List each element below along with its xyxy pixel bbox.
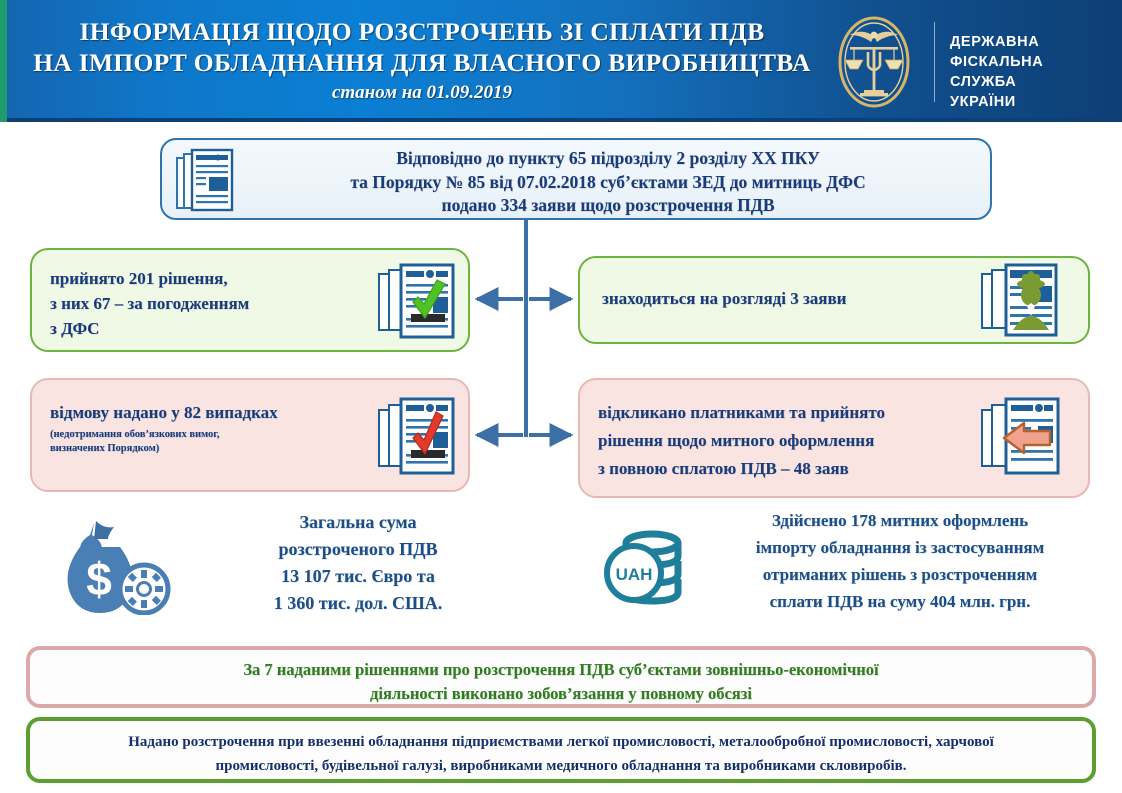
- obligations-fulfilled-line-1: За 7 наданими рішеннями про розстрочення…: [54, 658, 1068, 682]
- obligations-fulfilled-text: За 7 наданими рішеннями про розстрочення…: [54, 658, 1068, 706]
- industries-box: Надано розстрочення при ввезенні обладна…: [26, 717, 1096, 783]
- under-review-box: знаходиться на розгляді 3 заяви: [578, 256, 1090, 344]
- customs-clearances-summary: UAH Здійснено 178 митних оформлень імпор…: [588, 505, 1108, 623]
- total-amount-line-2: розстроченого ПДВ: [188, 536, 528, 563]
- agency-logo: ДЕРЖАВНА ФІСКАЛЬНА СЛУЖБА УКРАЇНИ: [838, 16, 1113, 108]
- refusals-box: відмову надано у 82 випадках (недотриман…: [30, 378, 470, 492]
- accepted-decisions-line-2: з них 67 – за погодженням: [50, 291, 350, 316]
- withdrawn-line-2: рішення щодо митного оформлення: [598, 427, 988, 455]
- top-statement-line-2: та Порядку № 85 від 07.02.2018 суб’єктам…: [232, 171, 984, 195]
- uah-icon-label: UAH: [616, 565, 653, 584]
- industries-text: Надано розстрочення при ввезенні обладна…: [50, 730, 1072, 778]
- logo-text-line-3: УКРАЇНИ: [950, 92, 1113, 112]
- page-title: ІНФОРМАЦІЯ ЩОДО РОЗСТРОЧЕНЬ ЗІ СПЛАТИ ПД…: [12, 16, 832, 104]
- accepted-decisions-line-3: з ДФС: [50, 316, 350, 341]
- under-review-text: знаходиться на розгляді 3 заяви: [602, 286, 992, 311]
- customs-clearances-line-3: отриманих рішень з розстроченням: [692, 561, 1108, 588]
- refusals-subtext-line-1: (недотримання обов’язкових вимог,: [50, 428, 380, 442]
- total-amount-line-1: Загальна сума: [188, 509, 528, 536]
- obligations-fulfilled-box: За 7 наданими рішеннями про розстрочення…: [26, 646, 1096, 708]
- withdrawn-box: відкликано платниками та прийнято рішенн…: [578, 378, 1090, 498]
- customs-clearances-line-1: Здійснено 178 митних оформлень: [692, 507, 1108, 534]
- withdrawn-line-3: з повною сплатою ПДВ – 48 заяв: [598, 455, 988, 483]
- documents-officer-icon: [980, 262, 1068, 342]
- page-title-line-1: ІНФОРМАЦІЯ ЩОДО РОЗСТРОЧЕНЬ ЗІ СПЛАТИ ПД…: [12, 16, 832, 47]
- customs-clearances-line-2: імпорту обладнання із застосуванням: [692, 534, 1108, 561]
- total-amount-line-3: 13 107 тис. Євро та: [188, 563, 528, 590]
- page-subtitle-date: станом на 01.09.2019: [12, 82, 832, 104]
- accepted-decisions-box: прийнято 201 рішення, з них 67 – за пого…: [30, 248, 470, 352]
- header-banner: ІНФОРМАЦІЯ ЩОДО РОЗСТРОЧЕНЬ ЗІ СПЛАТИ ПД…: [0, 0, 1122, 122]
- top-statement-text: Відповідно до пункту 65 підрозділу 2 роз…: [232, 147, 984, 218]
- refusals-subtext: (недотримання обов’язкових вимог, визнач…: [50, 428, 380, 456]
- withdrawn-line-1: відкликано платниками та прийнято: [598, 399, 988, 427]
- uah-coins-icon: UAH: [596, 523, 688, 613]
- customs-clearances-line-4: сплати ПДВ на суму 404 млн. грн.: [692, 588, 1108, 615]
- logo-text-line-2: ФІСКАЛЬНА СЛУЖБА: [950, 52, 1113, 92]
- industries-line-2: промисловості, будівельної галузі, вироб…: [50, 754, 1072, 778]
- logo-text-line-1: ДЕРЖАВНА: [950, 32, 1113, 52]
- documents-return-arrow-icon: [980, 396, 1068, 480]
- money-bag-dollar-gear-icon: $: [60, 517, 178, 615]
- documents-green-check-icon: [377, 262, 465, 342]
- top-statement-line-1: Відповідно до пункту 65 підрозділу 2 роз…: [232, 147, 984, 171]
- obligations-fulfilled-line-2: діяльності виконано зобов’язання у повно…: [54, 682, 1068, 706]
- refusals-text: відмову надано у 82 випадках (недотриман…: [50, 400, 380, 456]
- page-title-line-2: НА ІМПОРТ ОБЛАДНАННЯ ДЛЯ ВЛАСНОГО ВИРОБН…: [12, 47, 832, 78]
- header-accent-strip: [0, 0, 7, 122]
- logo-text: ДЕРЖАВНА ФІСКАЛЬНА СЛУЖБА УКРАЇНИ: [950, 32, 1113, 112]
- svg-text:$: $: [86, 553, 112, 605]
- industries-line-1: Надано розстрочення при ввезенні обладна…: [50, 730, 1072, 754]
- refusals-main-line: відмову надано у 82 випадках: [50, 400, 380, 425]
- top-statement-line-3: подано 334 заяви щодо розстрочення ПДВ: [232, 194, 984, 218]
- logo-divider: [934, 22, 935, 102]
- accepted-decisions-text: прийнято 201 рішення, з них 67 – за пого…: [50, 266, 350, 341]
- total-amount-summary: $ Загальна сума розстроченого ПДВ 13 107…: [40, 505, 540, 623]
- total-amount-text: Загальна сума розстроченого ПДВ 13 107 т…: [188, 509, 528, 617]
- total-amount-line-4: 1 360 тис. дол. США.: [188, 590, 528, 617]
- top-statement-box: Відповідно до пункту 65 підрозділу 2 роз…: [160, 138, 992, 220]
- withdrawn-text: відкликано платниками та прийнято рішенн…: [598, 399, 988, 483]
- customs-clearances-text: Здійснено 178 митних оформлень імпорту о…: [692, 507, 1108, 615]
- accepted-decisions-line-1: прийнято 201 рішення,: [50, 266, 350, 291]
- documents-red-check-icon: [377, 396, 465, 480]
- stacked-documents-icon: [176, 148, 238, 214]
- scales-of-justice-emblem-icon: [838, 16, 910, 108]
- refusals-subtext-line-2: визначених Порядком): [50, 442, 380, 456]
